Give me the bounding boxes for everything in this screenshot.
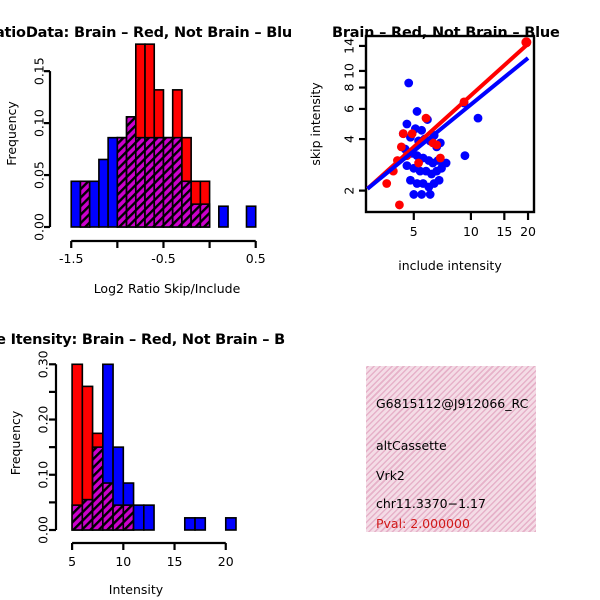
intensity-histogram-plot: 0.000.100.200.305101520IntensityFrequenc… [0, 330, 300, 595]
data-point [382, 179, 391, 188]
data-point [435, 176, 444, 185]
ratio-x-axis: -1.5-0.50.5 [59, 241, 266, 266]
data-point [413, 107, 422, 116]
y-axis-label: Frequency [4, 101, 19, 166]
x-tick-label: 10 [463, 224, 479, 239]
x-tick-label: -1.5 [59, 251, 83, 266]
histogram-bar-overlap [93, 447, 103, 530]
histogram-bar-overlap [113, 505, 123, 530]
data-point [461, 151, 470, 160]
data-point [414, 159, 423, 168]
x-tick-label: 5 [68, 554, 76, 569]
y-tick-label: 8 [342, 84, 357, 92]
y-tick-label: 4 [342, 135, 357, 143]
data-point-max [521, 37, 531, 47]
histogram-bar [195, 518, 205, 530]
histogram-bar-overlap [145, 138, 154, 227]
panel-scatter: Brain – Red, Not Brain – Blue 2468101451… [300, 0, 600, 310]
histogram-bar-overlap [182, 181, 191, 227]
data-point [399, 129, 408, 138]
y-tick-label: 0.05 [32, 161, 47, 189]
histogram-bar-overlap [80, 181, 89, 227]
y-tick-label: 0.10 [32, 109, 47, 137]
histogram-bar-overlap [136, 138, 145, 227]
x-tick-label: 10 [115, 554, 131, 569]
data-point [417, 126, 426, 135]
histogram-bar-overlap [82, 500, 92, 530]
panel-annotation-info: G6815112@J912066_RCaltCassetteVrk2chr11.… [366, 366, 536, 532]
scatter-y-axis: 24681014 [342, 38, 367, 195]
histogram-bar [99, 159, 108, 227]
histogram-bar [90, 181, 99, 227]
x-tick-label: 20 [520, 224, 536, 239]
y-tick-label: 0.15 [32, 57, 47, 85]
x-tick-label: 20 [218, 554, 234, 569]
histogram-bar-overlap [173, 138, 182, 227]
data-point [397, 143, 406, 152]
x-tick-label: 0.5 [246, 251, 266, 266]
histogram-bar-overlap [191, 204, 200, 227]
histogram-bar-overlap [117, 138, 126, 227]
scatter-plot: 246810145101520include intensityskip int… [300, 22, 600, 307]
info-line: G6815112@J912066_RC [376, 396, 528, 411]
y-tick-label: 0.30 [36, 350, 51, 378]
y-tick-label: 0.10 [36, 461, 51, 489]
data-point [404, 79, 413, 88]
histogram-bar-overlap [123, 505, 133, 530]
x-axis-label: Log2 Ratio Skip/Include [94, 281, 241, 296]
histogram-bar-overlap [163, 138, 172, 227]
y-tick-label: 6 [342, 105, 357, 113]
ratio-bars [71, 44, 255, 227]
histogram-bar [219, 206, 228, 227]
info-line: Vrk2 [376, 468, 405, 483]
intensity-bars [72, 364, 236, 530]
histogram-bar-overlap [72, 505, 82, 530]
data-point [422, 114, 431, 123]
y-tick-label: 0.00 [32, 213, 47, 241]
x-tick-label: 15 [496, 224, 512, 239]
data-point [395, 201, 404, 210]
fit-line [367, 58, 528, 189]
y-tick-label: 2 [342, 187, 357, 195]
intensity-y-axis: 0.000.100.200.30 [36, 350, 57, 544]
histogram-bar [246, 206, 255, 227]
data-point [408, 129, 417, 138]
histogram-bar-overlap [103, 483, 113, 530]
histogram-bar [71, 181, 80, 227]
y-axis-label: skip intensity [308, 82, 323, 166]
histogram-bar [144, 505, 154, 530]
x-tick-label: 15 [167, 554, 183, 569]
histogram-bar-overlap [200, 204, 209, 227]
y-tick-label: 0.00 [36, 516, 51, 544]
histogram-bar [108, 138, 117, 227]
info-line: altCassette [376, 438, 447, 453]
info-line: Pval: 2.000000 [376, 516, 470, 531]
y-axis-label: Frequency [8, 410, 23, 475]
x-axis-label: Intensity [109, 582, 164, 597]
data-point [432, 140, 441, 149]
x-tick-label: -0.5 [151, 251, 175, 266]
y-tick-label: 10 [342, 63, 357, 79]
histogram-bar [185, 518, 195, 530]
data-point [409, 190, 418, 199]
data-point [417, 190, 426, 199]
histogram-bar [226, 518, 236, 530]
scatter-x-axis: 5101520 [410, 212, 536, 239]
data-point [426, 190, 435, 199]
panel-ratio-histogram: RatioData: Brain – Red, Not Brain – Blu … [0, 0, 300, 310]
data-point [474, 114, 483, 123]
info-line: chr11.3370−1.17 [376, 496, 486, 511]
panel-intensity-histogram: ne Itensity: Brain – Red, Not Brain – B … [0, 310, 300, 600]
x-tick-label: 5 [410, 224, 418, 239]
histogram-bar [134, 505, 144, 530]
intensity-x-axis: 5101520 [68, 543, 234, 569]
ratio-y-axis: 0.000.050.100.15 [32, 57, 51, 241]
histogram-bar-overlap [154, 138, 163, 227]
ratio-histogram-plot: 0.000.050.100.15-1.5-0.50.5Log2 Ratio Sk… [0, 22, 300, 307]
x-axis-label: include intensity [398, 258, 502, 273]
data-point [436, 154, 445, 163]
info-text-lines: G6815112@J912066_RCaltCassetteVrk2chr11.… [366, 366, 536, 532]
y-tick-label: 0.20 [36, 406, 51, 434]
data-point [403, 120, 412, 129]
y-tick-label: 14 [342, 38, 357, 54]
histogram-bar-overlap [127, 117, 136, 227]
